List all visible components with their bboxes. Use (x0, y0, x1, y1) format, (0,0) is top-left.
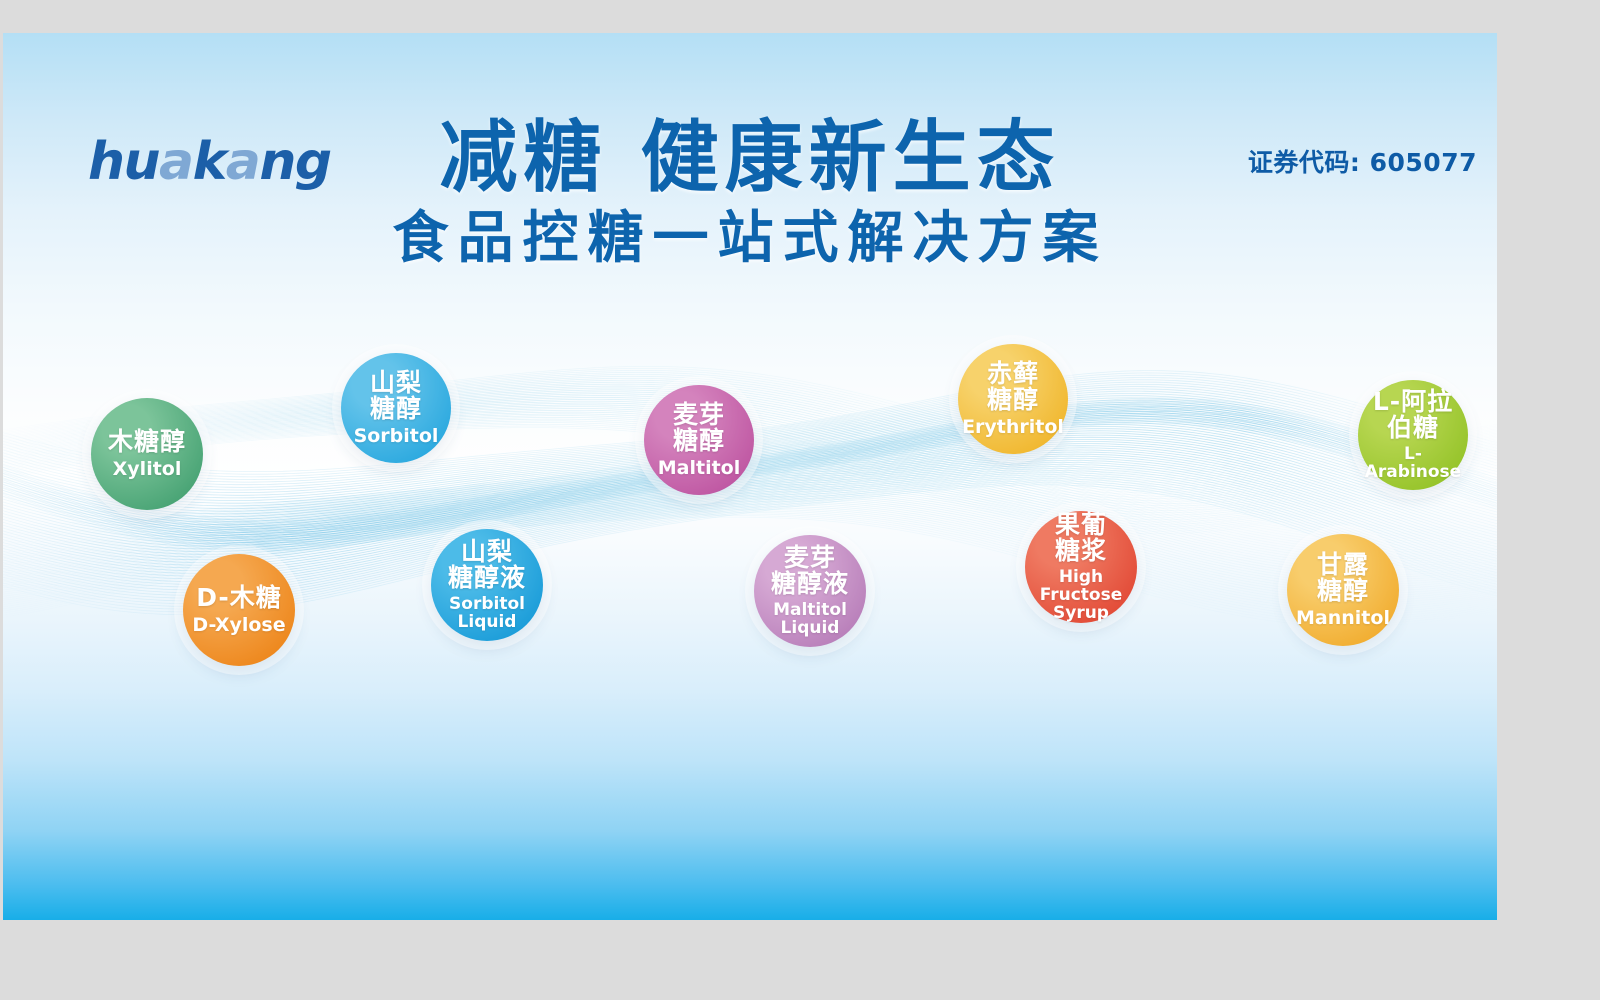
product-bubble[interactable]: 山梨糖醇Sorbitol (341, 353, 451, 463)
product-name-en: D-Xylose (192, 615, 285, 635)
product-bubble[interactable]: 木糖醇Xylitol (91, 398, 203, 510)
product-bubble[interactable]: 甘露糖醇Mannitol (1287, 534, 1399, 646)
product-bubble[interactable]: 麦芽糖醇Maltitol (644, 385, 754, 495)
product-bubble[interactable]: 山梨糖醇液Sorbitol Liquid (431, 529, 543, 641)
product-name-cn: L-阿拉伯糖 (1373, 389, 1453, 442)
product-name-en: Sorbitol (354, 426, 439, 446)
product-name-cn: 赤藓糖醇 (987, 361, 1039, 414)
product-name-cn-line: 麦芽 (771, 545, 849, 572)
product-name-cn-line: 果葡 (1055, 512, 1107, 539)
product-name-cn-line: 糖醇液 (771, 571, 849, 598)
product-name-en-line: High Fructose (1025, 568, 1137, 604)
product-name-cn-line: 山梨 (448, 539, 526, 566)
product-name-cn-line: 糖醇 (673, 428, 725, 455)
banner-canvas: huakang 证券代码: 605077 减糖 健康新生态 食品控糖一站式解决方… (3, 33, 1497, 920)
product-name-cn-line: 麦芽 (673, 402, 725, 429)
product-name-en: Maltitol (658, 458, 741, 478)
product-name-cn: 麦芽糖醇液 (771, 545, 849, 598)
poster-root: huakang 证券代码: 605077 减糖 健康新生态 食品控糖一站式解决方… (0, 0, 1600, 1000)
product-name-en: Xylitol (113, 459, 182, 479)
product-name-cn-line: 赤藓 (987, 361, 1039, 388)
page-title: 减糖 健康新生态 (3, 118, 1497, 200)
product-name-cn: 山梨糖醇 (370, 370, 422, 423)
product-name-cn-line: 糖醇 (370, 396, 422, 423)
product-name-cn-line: 糖醇 (987, 387, 1039, 414)
product-name-cn: 甘露糖醇 (1317, 552, 1369, 605)
product-name-en: Sorbitol Liquid (431, 595, 543, 631)
product-name-cn-line: L-阿拉 (1373, 389, 1453, 416)
product-bubble[interactable]: L-阿拉伯糖L-Arabinose (1358, 380, 1468, 490)
product-name-en: High FructoseSyrup (1025, 568, 1137, 622)
product-bubble[interactable]: 麦芽糖醇液Maltitol Liquid (754, 535, 866, 647)
title-block: 减糖 健康新生态 食品控糖一站式解决方案 (3, 118, 1497, 269)
product-name-cn: 果葡糖浆 (1055, 512, 1107, 565)
product-name-cn-line: 糖醇 (1317, 578, 1369, 605)
product-bubble[interactable]: D-木糖D-Xylose (183, 554, 295, 666)
product-name-en: Erythritol (962, 417, 1064, 437)
product-name-cn: D-木糖 (196, 585, 282, 612)
product-name-cn-line: 糖醇液 (448, 565, 526, 592)
product-name-cn: 木糖醇 (108, 429, 186, 456)
product-name-cn-line: 糖浆 (1055, 538, 1107, 565)
product-name-en: Maltitol Liquid (754, 601, 866, 637)
product-name-en: L-Arabinose (1358, 445, 1468, 481)
product-name-cn-line: 甘露 (1317, 552, 1369, 579)
product-name-en-line: Syrup (1025, 604, 1137, 622)
product-name-cn: 麦芽糖醇 (673, 402, 725, 455)
product-bubble[interactable]: 赤藓糖醇Erythritol (958, 344, 1068, 454)
product-name-cn-line: 伯糖 (1373, 415, 1453, 442)
page-subtitle: 食品控糖一站式解决方案 (3, 208, 1497, 270)
product-name-cn: 山梨糖醇液 (448, 539, 526, 592)
product-name-en: Mannitol (1296, 608, 1390, 628)
product-name-cn-line: 山梨 (370, 370, 422, 397)
product-bubble[interactable]: 果葡糖浆High FructoseSyrup (1025, 511, 1137, 623)
